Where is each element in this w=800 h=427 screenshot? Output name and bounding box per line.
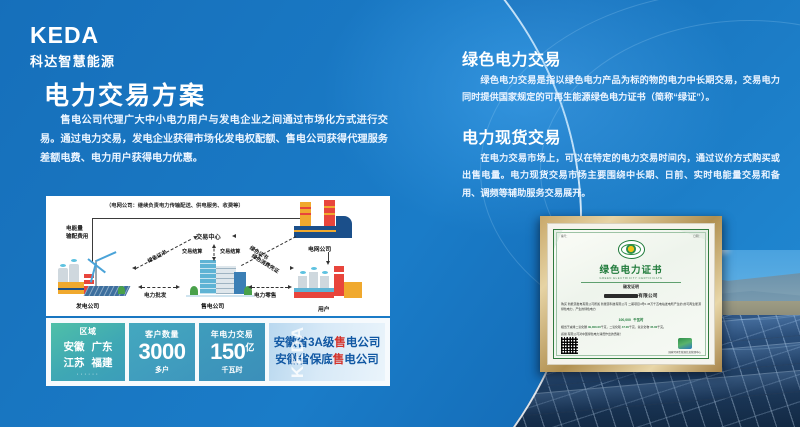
stat-value-volume: 150亿 — [210, 340, 254, 363]
user-icon — [294, 266, 366, 302]
certificate-serial-label: 编号： — [561, 234, 569, 238]
certificate-divider — [581, 282, 682, 283]
diagram-dashed-connector — [252, 287, 288, 288]
company-stats-strip: 区域 安徽 广东 江苏 福建 ······ 客户数量 3000 多户 年电力交易… — [46, 318, 390, 386]
page-title: 电力交易方案 — [44, 76, 206, 112]
arrowhead-icon — [326, 261, 330, 265]
certificate-paragraph: 购买 新能源发电有限公司所属 新能源科技有限公司 二期项目4号0.45万千瓦电站… — [561, 302, 701, 312]
arrowhead-icon — [138, 285, 142, 289]
stat-value-customers: 3000 — [139, 340, 186, 363]
stat-card-volume: 年电力交易 150亿 千瓦时 — [199, 323, 265, 381]
qualification-badges: KEDA 安徽省3A级售电公司 安徽省保底售电公司 — [269, 323, 385, 381]
seal-core-icon — [626, 244, 636, 254]
arrowhead-icon — [212, 257, 216, 261]
stat-card-region: 区域 安徽 广东 江苏 福建 ······ — [51, 323, 125, 381]
section-body-green-trading: 绿色电力交易是指以绿色电力产品为标的物的电力中长期交易，交易电力同时提供国家规定… — [462, 72, 780, 107]
arrowhead-icon — [176, 285, 180, 289]
diagram-side-label-1: 电能量 — [66, 224, 83, 232]
section-body-spot-trading: 在电力交易市场上，可以在特定的电力交易时间内，通过议价方式购买或出售电量。电力现… — [462, 150, 780, 202]
stat-unit-volume: 千瓦时 — [222, 365, 243, 375]
certificate-paper: 编号： 日期： 绿色电力证书 GREEN ELECTRICITY CERTIFI… — [553, 229, 709, 359]
edge-label-retail: 电力零售 — [254, 291, 276, 299]
green-certificate-frame: 编号： 日期： 绿色电力证书 GREEN ELECTRICITY CERTIFI… — [540, 216, 722, 372]
node-label-generator: 发电公司 — [76, 301, 99, 310]
certificate-subtitle: GREEN ELECTRICITY CERTIFICATE — [599, 277, 662, 280]
arrowhead-icon — [248, 285, 252, 289]
diagram-side-label-2: 输配费用 — [66, 232, 88, 240]
diagram-connector — [92, 218, 306, 219]
badge-1-post: 电公司 — [346, 337, 381, 349]
region-list: 安徽 广东 江苏 福建 — [64, 339, 113, 370]
qr-code-icon — [561, 337, 578, 354]
node-label-user: 用户 — [318, 304, 330, 313]
badge-2-post: 电公司 — [344, 354, 379, 366]
certificate-issuer-stamp: 国家可再生能源信息管理中心 — [668, 338, 701, 355]
stat-number-volume: 150 — [210, 339, 245, 364]
diagram-center-label: 交易中心 — [196, 232, 221, 241]
redacted-company-name — [604, 294, 638, 298]
arrowhead-icon — [232, 234, 236, 238]
detail-value-co2: 49,000.00 — [588, 325, 601, 329]
issuer-name: 国家可再生能源信息管理中心 — [668, 350, 701, 354]
region-ellipsis: ······ — [77, 371, 100, 378]
region-item: 广东 — [92, 339, 113, 354]
certificate-amount-unit: 千瓦时 — [633, 318, 643, 322]
detail-value-so2: 47.00 — [622, 325, 629, 329]
diagram-dashed-connector — [142, 287, 176, 288]
arrowhead-icon — [290, 266, 294, 270]
certificate-mat: 编号： 日期： 绿色电力证书 GREEN ELECTRICITY CERTIFI… — [547, 223, 715, 365]
arrowhead-icon — [288, 285, 292, 289]
power-trading-flow-diagram: （电网公司：继续负责电力传输配送、供电服务、收费等） 电能量 输配费用 交易中心 — [46, 196, 390, 316]
lead-paragraph: 售电公司代理广大中小电力用户与发电企业之间通过市场化方式进行交易。通过电力交易，… — [40, 112, 388, 169]
certificate-seal-icon — [618, 240, 645, 259]
certificate-date-label: 日期： — [693, 234, 701, 238]
edge-label-settle-right: 交易结算 — [220, 248, 240, 255]
keda-watermark: KEDA — [288, 326, 308, 378]
stat-card-customers: 客户数量 3000 多户 — [129, 323, 195, 381]
section-title-spot-trading: 电力现货交易 — [462, 124, 561, 148]
edge-label-settle-left: 交易结算 — [182, 248, 202, 255]
detail-prefix: 相当于减排二氧化碳 — [561, 325, 587, 329]
stat-unit-customers: 多户 — [155, 365, 169, 375]
logo-subtitle: 科达智慧能源 — [30, 51, 115, 70]
detail-mid-3: 千克。 — [657, 325, 666, 329]
detail-mid-1: 千克，二氧化硫 — [601, 325, 621, 329]
certificate-company-suffix: 有限公司 — [638, 293, 658, 298]
badge-2-em: 售 — [333, 354, 345, 366]
region-item: 安徽 — [64, 339, 85, 354]
arrowhead-icon — [132, 266, 136, 270]
badge-1-em: 售 — [334, 337, 346, 349]
node-label-retailer: 售电公司 — [201, 301, 224, 310]
certificate-emission-detail: 相当于减排二氧化碳 49,000.00千克，二氧化硫 47.00千克，氮氧化物 … — [561, 325, 701, 330]
stat-suffix-volume: 亿 — [245, 343, 254, 353]
grid-company-icon — [292, 202, 364, 242]
detail-mid-2: 千克，氮氧化物 — [629, 325, 649, 329]
edge-label-green-cert: 绿色证书 — [146, 249, 168, 265]
slide-canvas: KEDA 科达智慧能源 电力交易方案 售电公司代理广大中小电力用户与发电企业之间… — [0, 0, 800, 427]
certificate-amount: 100,000 千瓦时 — [619, 313, 644, 323]
brand-logo: KEDA 科达智慧能源 — [30, 24, 115, 70]
certificate-kind: 碳发证明 — [623, 284, 639, 290]
arrowhead-icon — [212, 244, 216, 248]
issuer-logo-icon — [678, 338, 692, 349]
generation-company-icon — [58, 256, 136, 298]
certificate-title: 绿色电力证书 — [599, 262, 662, 276]
stat-caption-region: 区域 — [80, 326, 97, 337]
certificate-company: 有限公司 — [604, 293, 658, 299]
certificate-header: 编号： 日期： — [561, 234, 701, 238]
edge-label-wholesale: 电力批发 — [144, 291, 166, 299]
region-item: 福建 — [92, 355, 113, 370]
certificate-amount-value: 100,000 — [619, 318, 631, 322]
certificate-bottom-row: 国家可再生能源信息管理中心 — [561, 337, 701, 354]
logo-wordmark: KEDA — [30, 24, 115, 47]
region-item: 江苏 — [64, 355, 85, 370]
section-title-green-trading: 绿色电力交易 — [462, 46, 561, 70]
